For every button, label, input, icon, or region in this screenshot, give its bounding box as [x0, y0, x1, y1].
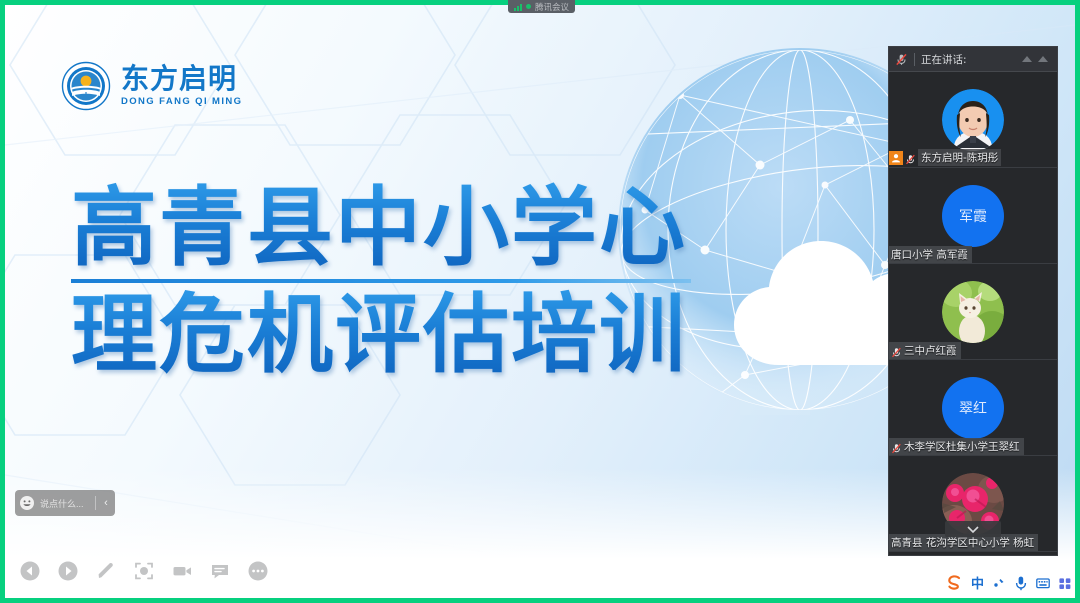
brand-logo: 东方启明 DONG FANG QI MING	[61, 61, 242, 111]
participants-panel-header[interactable]: 正在讲话:	[889, 47, 1057, 72]
participant-name-row: 唐口小学 高军霞	[889, 246, 972, 263]
sogou-logo-icon[interactable]	[946, 574, 963, 591]
speaking-now-label: 正在讲话:	[921, 52, 967, 67]
participant-name-row: 东方启明-陈玥彤	[889, 148, 1005, 167]
video-camera-icon[interactable]	[171, 560, 193, 582]
green-dot-icon	[526, 4, 531, 9]
initials-avatar: 军霞	[942, 185, 1004, 247]
participant-tile[interactable]: 高青县 花沟学区中心小学 杨虹	[889, 456, 1057, 552]
chat-input-bar[interactable]: 说点什么... ‹	[15, 490, 115, 516]
participant-tile[interactable]: 翠红 木李学区杜集小学王翠红	[889, 360, 1057, 456]
chevron-down-icon[interactable]	[945, 521, 1001, 537]
chat-input-placeholder[interactable]: 说点什么...	[40, 497, 90, 510]
participant-name-row: 木李学区杜集小学王翠红	[889, 438, 1024, 455]
host-person-icon	[889, 151, 903, 165]
logo-en-text: DONG FANG QI MING	[121, 97, 242, 107]
logo-cn-text: 东方启明	[121, 65, 242, 93]
participant-name: 三中卢红霞	[904, 343, 957, 358]
voice-input-icon[interactable]	[1014, 575, 1028, 591]
title-underline	[71, 279, 691, 283]
participant-name: 东方启明-陈玥彤	[918, 149, 1001, 166]
mic-muted-icon[interactable]	[895, 53, 908, 66]
cat-photo-avatar	[942, 281, 1004, 343]
presentation-toolbar[interactable]	[19, 554, 269, 588]
ellipsis-circle-icon[interactable]	[247, 560, 269, 582]
prev-slide-button[interactable]	[19, 560, 41, 582]
focus-frame-icon[interactable]	[133, 560, 155, 582]
participant-tile[interactable]: 东方启明-陈玥彤	[889, 72, 1057, 168]
sunrise-book-emblem-icon	[61, 61, 111, 111]
tencent-meeting-indicator[interactable]: 腾讯会议	[508, 0, 575, 13]
page-title: 高青县中小学心 理危机评估培训	[71, 180, 711, 384]
speech-bubble-icon[interactable]	[209, 560, 231, 582]
signal-bars-icon	[514, 3, 522, 11]
title-line-2: 理危机评估培训	[71, 287, 711, 384]
title-line-1: 高青县中小学心	[71, 180, 711, 277]
sogou-ime-bar[interactable]: 中	[946, 573, 1072, 592]
pencil-icon[interactable]	[95, 560, 117, 582]
chinese-mode-toggle[interactable]: 中	[971, 573, 984, 592]
initials-avatar: 翠红	[942, 377, 1004, 439]
participants-panel[interactable]: 正在讲话:	[888, 46, 1058, 556]
participant-name: 唐口小学 高军霞	[891, 247, 968, 262]
participant-tile[interactable]: 三中卢红霞	[889, 264, 1057, 360]
participant-name: 高青县 花沟学区中心小学 杨虹	[891, 535, 1034, 550]
next-slide-button[interactable]	[57, 560, 79, 582]
mic-muted-icon	[891, 441, 902, 452]
smiley-icon[interactable]	[19, 495, 35, 511]
tencent-meeting-label: 腾讯会议	[535, 1, 569, 13]
double-chevron-right-icon[interactable]	[1020, 53, 1051, 65]
soft-keyboard-icon[interactable]	[1036, 575, 1050, 591]
screen-share-view: 东方启明 DONG FANG QI MING 高青县中小学心 理危机评估培训 说…	[0, 0, 1080, 603]
avatar-initials: 军霞	[959, 206, 987, 226]
chevron-left-icon[interactable]: ‹	[101, 498, 111, 509]
participant-name: 木李学区杜集小学王翠红	[904, 439, 1020, 454]
mic-muted-icon	[891, 345, 902, 356]
participant-tiles[interactable]: 东方启明-陈玥彤 军霞 唐口小学 高军霞	[889, 72, 1057, 555]
avatar-initials: 翠红	[959, 398, 987, 418]
ime-apps-icon[interactable]	[1058, 575, 1072, 591]
woman-portrait-avatar	[942, 89, 1004, 151]
punctuation-toggle-icon[interactable]	[992, 575, 1006, 591]
header-divider	[914, 53, 915, 66]
participant-name-row: 三中卢红霞	[889, 342, 961, 359]
mic-muted-icon	[905, 152, 916, 163]
participant-tile[interactable]: 军霞 唐口小学 高军霞	[889, 168, 1057, 264]
chat-divider	[95, 496, 96, 510]
